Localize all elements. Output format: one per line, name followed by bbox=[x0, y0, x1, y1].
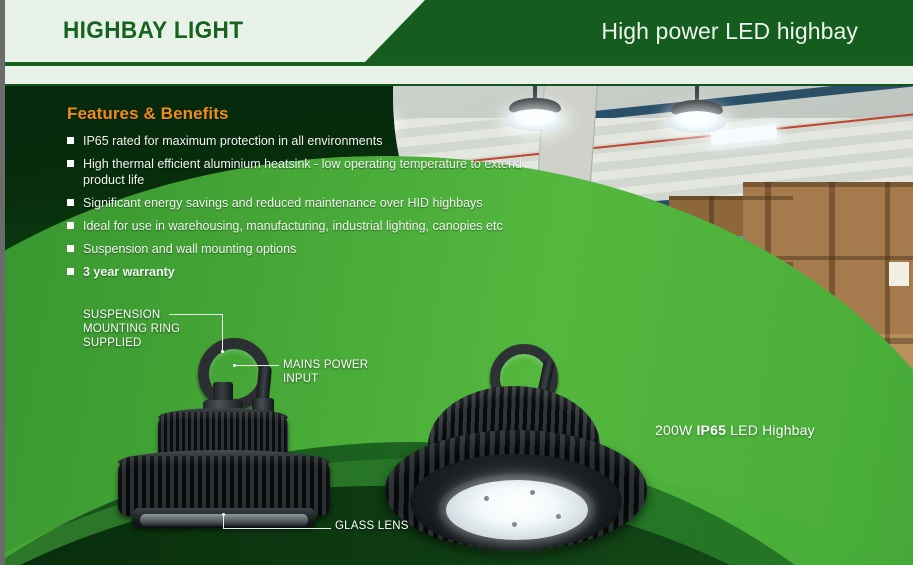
feature-text: Suspension and wall mounting options bbox=[83, 241, 296, 257]
lower-heatsink-fins bbox=[118, 456, 330, 516]
feature-item: Suspension and wall mounting options bbox=[67, 241, 527, 257]
callout-anchor-dot bbox=[221, 350, 224, 353]
bullet-square-icon bbox=[67, 160, 74, 167]
callout-mains-power: MAINS POWER INPUT bbox=[283, 358, 368, 386]
callout-anchor-dot bbox=[233, 364, 236, 367]
feature-text: 3 year warranty bbox=[83, 264, 175, 280]
page-title: HIGHBAY LIGHT bbox=[63, 0, 243, 62]
header-light-band bbox=[5, 66, 913, 84]
page-header: HIGHBAY LIGHT High power LED highbay bbox=[5, 0, 913, 62]
product-caption: 200W IP65 LED Highbay bbox=[655, 422, 815, 438]
callout-leader-line bbox=[223, 528, 331, 529]
bullet-square-icon bbox=[67, 222, 74, 229]
feature-item: High thermal efficient aluminium heatsin… bbox=[67, 156, 527, 188]
page-body: Features & Benefits IP65 rated for maxim… bbox=[5, 86, 913, 565]
callout-leader-line bbox=[222, 314, 223, 352]
callout-line: GLASS LENS bbox=[335, 519, 409, 533]
features-section: Features & Benefits IP65 rated for maxim… bbox=[67, 104, 527, 287]
feature-item: Ideal for use in warehousing, manufactur… bbox=[67, 218, 527, 234]
callout-suspension-ring: SUSPENSION MOUNTING RING SUPPLIED bbox=[83, 308, 180, 350]
bullet-square-icon bbox=[67, 268, 74, 275]
callout-leader-line bbox=[169, 314, 222, 315]
feature-item: 3 year warranty bbox=[67, 264, 527, 280]
datasheet-page: HIGHBAY LIGHT High power LED highbay bbox=[0, 0, 913, 565]
callout-leader-line bbox=[235, 365, 279, 366]
callout-glass-lens: GLASS LENS bbox=[335, 519, 409, 533]
caption-rest: LED Highbay bbox=[726, 422, 815, 438]
callout-line: MOUNTING RING bbox=[83, 322, 180, 336]
bullet-square-icon bbox=[67, 199, 74, 206]
product-image-angled-view bbox=[380, 338, 655, 563]
bullet-square-icon bbox=[67, 137, 74, 144]
header-subtitle: High power LED highbay bbox=[601, 0, 858, 62]
callout-leader-line bbox=[223, 515, 224, 529]
bullet-square-icon bbox=[67, 245, 74, 252]
caption-ip-rating: IP65 bbox=[696, 422, 726, 438]
callout-line: MAINS POWER bbox=[283, 358, 368, 372]
callout-line: SUSPENSION bbox=[83, 308, 180, 322]
callout-line: INPUT bbox=[283, 372, 368, 386]
feature-text: IP65 rated for maximum protection in all… bbox=[83, 133, 382, 149]
feature-item: IP65 rated for maximum protection in all… bbox=[67, 133, 527, 149]
feature-text: Ideal for use in warehousing, manufactur… bbox=[83, 218, 503, 234]
callout-anchor-dot bbox=[222, 513, 225, 516]
caption-watts: 200W bbox=[655, 422, 696, 438]
feature-text: High thermal efficient aluminium heatsin… bbox=[83, 156, 527, 188]
glass-lens bbox=[446, 480, 588, 540]
feature-text: Significant energy savings and reduced m… bbox=[83, 195, 483, 211]
features-title: Features & Benefits bbox=[67, 104, 527, 124]
feature-item: Significant energy savings and reduced m… bbox=[67, 195, 527, 211]
callout-line: SUPPLIED bbox=[83, 336, 180, 350]
